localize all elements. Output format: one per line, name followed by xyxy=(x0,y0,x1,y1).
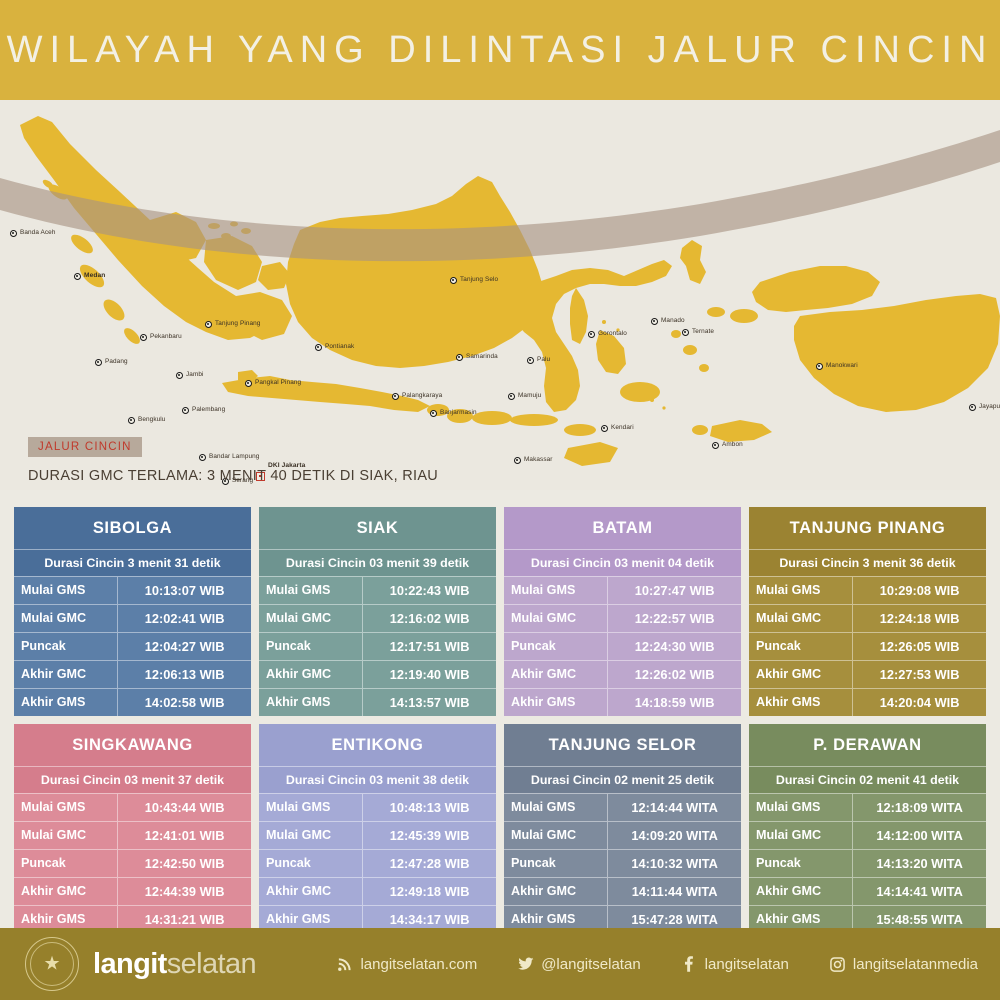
map-legend: JALUR CINCIN DURASI GMC TERLAMA: 3 MENIT… xyxy=(0,425,1000,495)
twitter-icon xyxy=(517,956,534,973)
event-time-value: 14:13:20 WITA xyxy=(853,850,986,877)
facebook-icon xyxy=(681,956,698,973)
city-label: Pontianak xyxy=(325,343,354,350)
event-label: Puncak xyxy=(259,850,363,877)
city-label: Banda Aceh xyxy=(20,229,55,236)
table-row: Mulai GMC12:22:57 WIB xyxy=(504,604,741,632)
city-label: Samarinda xyxy=(466,353,498,360)
city-marker-icon xyxy=(682,329,689,336)
event-time-value: 12:27:53 WIB xyxy=(853,661,986,688)
city-label: Manado xyxy=(661,317,685,324)
event-label: Puncak xyxy=(504,633,608,660)
city-marker-icon xyxy=(969,404,976,411)
event-label: Puncak xyxy=(14,850,118,877)
footer-bar: ★ langitselatan langitselatan.com@langit… xyxy=(0,928,1000,1000)
table-row: Mulai GMS10:48:13 WIB xyxy=(259,793,496,821)
event-label: Akhir GMC xyxy=(504,661,608,688)
event-time-value: 12:24:18 WIB xyxy=(853,605,986,632)
social-link-twitter[interactable]: @langitselatan xyxy=(517,956,640,973)
card-title: TANJUNG PINANG xyxy=(749,507,986,549)
event-time-value: 10:48:13 WIB xyxy=(363,794,496,821)
langitselatan-seal-logo: ★ xyxy=(25,937,79,991)
event-time-value: 12:04:27 WIB xyxy=(118,633,251,660)
event-label: Mulai GMS xyxy=(749,577,853,604)
event-label: Puncak xyxy=(749,850,853,877)
table-row: Akhir GMS14:18:59 WIB xyxy=(504,688,741,716)
city-marker-icon xyxy=(315,344,322,351)
city-card: SINGKAWANGDurasi Cincin 03 menit 37 deti… xyxy=(14,724,251,933)
city-marker-icon xyxy=(140,334,147,341)
city-marker-icon xyxy=(128,417,135,424)
seal-figure-icon: ★ xyxy=(26,955,78,974)
city-label: Manokwari xyxy=(826,362,858,369)
card-duration-label: Durasi Cincin 3 menit 31 detik xyxy=(14,549,251,576)
table-row: Mulai GMC12:02:41 WIB xyxy=(14,604,251,632)
card-title: TANJUNG SELOR xyxy=(504,724,741,766)
page-title: WILAYAH YANG DILINTASI JALUR CINCIN xyxy=(7,29,994,72)
brand-name-bold: langit xyxy=(93,948,167,980)
city-marker-icon xyxy=(651,318,658,325)
table-row: Akhir GMS14:02:58 WIB xyxy=(14,688,251,716)
city-label: Padang xyxy=(105,358,128,365)
event-time-value: 12:17:51 WIB xyxy=(363,633,496,660)
instagram-icon xyxy=(829,956,846,973)
city-marker-icon xyxy=(10,230,17,237)
table-row: Puncak12:04:27 WIB xyxy=(14,632,251,660)
event-label: Mulai GMS xyxy=(259,794,363,821)
event-time-value: 12:02:41 WIB xyxy=(118,605,251,632)
city-label: Jambi xyxy=(186,371,204,378)
city-label: Gorontalo xyxy=(598,330,627,337)
social-links: langitselatan.com@langitselatanlangitsel… xyxy=(296,956,978,973)
table-row: Puncak12:47:28 WIB xyxy=(259,849,496,877)
city-label: Pangkal Pinang xyxy=(255,379,301,386)
brand-wordmark: langitselatan xyxy=(93,948,256,981)
event-label: Akhir GMS xyxy=(749,689,853,716)
city-marker-icon xyxy=(527,357,534,364)
event-label: Mulai GMS xyxy=(14,577,118,604)
event-time-value: 12:14:44 WITA xyxy=(608,794,741,821)
card-title: BATAM xyxy=(504,507,741,549)
event-time-value: 12:16:02 WIB xyxy=(363,605,496,632)
social-link-rss[interactable]: langitselatan.com xyxy=(336,956,477,973)
city-marker-icon xyxy=(430,410,437,417)
table-row: Mulai GMS10:27:47 WIB xyxy=(504,576,741,604)
infographic-page: WILAYAH YANG DILINTASI JALUR CINCIN xyxy=(0,0,1000,1000)
table-row: Puncak12:42:50 WIB xyxy=(14,849,251,877)
card-duration-label: Durasi Cincin 03 menit 37 detik xyxy=(14,766,251,793)
event-time-value: 14:02:58 WIB xyxy=(118,689,251,716)
event-label: Mulai GMC xyxy=(14,605,118,632)
city-marker-icon xyxy=(74,273,81,280)
city-label: Palembang xyxy=(192,406,225,413)
event-time-value: 12:41:01 WIB xyxy=(118,822,251,849)
city-card: TANJUNG PINANGDurasi Cincin 3 menit 36 d… xyxy=(749,507,986,716)
event-time-value: 14:20:04 WIB xyxy=(853,689,986,716)
event-label: Akhir GMC xyxy=(14,661,118,688)
event-label: Akhir GMS xyxy=(504,689,608,716)
city-marker-icon xyxy=(450,277,457,284)
card-duration-label: Durasi Cincin 03 menit 38 detik xyxy=(259,766,496,793)
event-time-value: 12:24:30 WIB xyxy=(608,633,741,660)
city-label: Tanjung Pinang xyxy=(215,320,260,327)
event-label: Mulai GMS xyxy=(259,577,363,604)
event-time-value: 10:13:07 WIB xyxy=(118,577,251,604)
event-time-value: 10:22:43 WIB xyxy=(363,577,496,604)
table-row: Mulai GMC12:16:02 WIB xyxy=(259,604,496,632)
city-card: P. DERAWANDurasi Cincin 02 menit 41 deti… xyxy=(749,724,986,933)
event-label: Akhir GMS xyxy=(14,689,118,716)
event-label: Mulai GMC xyxy=(14,822,118,849)
event-time-value: 14:12:00 WITA xyxy=(853,822,986,849)
table-row: Puncak12:17:51 WIB xyxy=(259,632,496,660)
card-title: SINGKAWANG xyxy=(14,724,251,766)
event-label: Akhir GMC xyxy=(749,878,853,905)
table-row: Akhir GMC12:06:13 WIB xyxy=(14,660,251,688)
brand-name-light: selatan xyxy=(167,948,256,980)
card-duration-label: Durasi Cincin 02 menit 25 detik xyxy=(504,766,741,793)
city-card: SIBOLGADurasi Cincin 3 menit 31 detikMul… xyxy=(14,507,251,716)
city-marker-icon xyxy=(95,359,102,366)
event-time-value: 12:19:40 WIB xyxy=(363,661,496,688)
card-title: P. DERAWAN xyxy=(749,724,986,766)
event-time-value: 14:10:32 WITA xyxy=(608,850,741,877)
social-link-instagram[interactable]: langitselatanmedia xyxy=(829,956,978,973)
table-row: Akhir GMC14:14:41 WITA xyxy=(749,877,986,905)
title-bar: WILAYAH YANG DILINTASI JALUR CINCIN xyxy=(0,0,1000,100)
event-time-value: 12:22:57 WIB xyxy=(608,605,741,632)
table-row: Akhir GMS14:20:04 WIB xyxy=(749,688,986,716)
city-label: Banjarmasin xyxy=(440,409,477,416)
kalimantan-landmass xyxy=(286,176,544,368)
city-timing-cards: SIBOLGADurasi Cincin 3 menit 31 detikMul… xyxy=(0,498,1000,928)
card-duration-label: Durasi Cincin 03 menit 39 detik xyxy=(259,549,496,576)
card-title: SIBOLGA xyxy=(14,507,251,549)
card-row-2: SINGKAWANGDurasi Cincin 03 menit 37 deti… xyxy=(14,724,986,933)
table-row: Mulai GMS10:29:08 WIB xyxy=(749,576,986,604)
event-time-value: 10:43:44 WIB xyxy=(118,794,251,821)
city-marker-icon xyxy=(588,331,595,338)
table-row: Mulai GMC14:09:20 WITA xyxy=(504,821,741,849)
event-label: Akhir GMC xyxy=(749,661,853,688)
social-link-facebook[interactable]: langitselatan xyxy=(681,956,789,973)
table-row: Puncak12:24:30 WIB xyxy=(504,632,741,660)
card-duration-label: Durasi Cincin 02 menit 41 detik xyxy=(749,766,986,793)
city-label: Jayapura xyxy=(979,403,1000,410)
event-time-value: 10:29:08 WIB xyxy=(853,577,986,604)
city-label: Ternate xyxy=(692,328,714,335)
city-label: Mamuju xyxy=(518,392,541,399)
event-label: Mulai GMC xyxy=(259,605,363,632)
city-marker-icon xyxy=(392,393,399,400)
table-row: Akhir GMC12:26:02 WIB xyxy=(504,660,741,688)
event-label: Mulai GMS xyxy=(14,794,118,821)
table-row: Mulai GMS12:14:44 WITA xyxy=(504,793,741,821)
event-label: Mulai GMS xyxy=(504,577,608,604)
java-landmass xyxy=(222,376,430,412)
city-label: Tanjung Selo xyxy=(460,276,498,283)
table-row: Akhir GMC12:44:39 WIB xyxy=(14,877,251,905)
papua-west-landmass xyxy=(752,266,880,312)
city-label: Pekanbaru xyxy=(150,333,182,340)
table-row: Akhir GMC12:27:53 WIB xyxy=(749,660,986,688)
city-marker-icon xyxy=(176,372,183,379)
event-label: Mulai GMC xyxy=(259,822,363,849)
event-time-value: 12:42:50 WIB xyxy=(118,850,251,877)
event-time-value: 12:45:39 WIB xyxy=(363,822,496,849)
event-time-value: 14:09:20 WITA xyxy=(608,822,741,849)
event-label: Akhir GMC xyxy=(14,878,118,905)
legend-note-durasi: DURASI GMC TERLAMA: 3 MENIT 40 DETIK DI … xyxy=(28,468,438,484)
table-row: Mulai GMC12:41:01 WIB xyxy=(14,821,251,849)
event-label: Akhir GMC xyxy=(504,878,608,905)
annular-path-band xyxy=(0,130,1000,261)
card-title: ENTIKONG xyxy=(259,724,496,766)
event-label: Mulai GMC xyxy=(504,605,608,632)
event-label: Puncak xyxy=(14,633,118,660)
event-label: Mulai GMS xyxy=(749,794,853,821)
event-time-value: 12:49:18 WIB xyxy=(363,878,496,905)
event-time-value: 14:13:57 WIB xyxy=(363,689,496,716)
table-row: Puncak14:13:20 WITA xyxy=(749,849,986,877)
legend-chip-jalur-cincin: JALUR CINCIN xyxy=(28,437,142,457)
papua-landmass xyxy=(794,294,1000,412)
city-card: BATAMDurasi Cincin 03 menit 04 detikMula… xyxy=(504,507,741,716)
card-duration-label: Durasi Cincin 03 menit 04 detik xyxy=(504,549,741,576)
city-label: Medan xyxy=(84,272,105,279)
social-link-label: langitselatan xyxy=(705,956,789,973)
event-time-value: 10:27:47 WIB xyxy=(608,577,741,604)
table-row: Mulai GMS10:22:43 WIB xyxy=(259,576,496,604)
event-label: Mulai GMS xyxy=(504,794,608,821)
table-row: Mulai GMS10:43:44 WIB xyxy=(14,793,251,821)
event-time-value: 14:18:59 WIB xyxy=(608,689,741,716)
city-card: SIAKDurasi Cincin 03 menit 39 detikMulai… xyxy=(259,507,496,716)
table-row: Puncak12:26:05 WIB xyxy=(749,632,986,660)
social-link-label: langitselatan.com xyxy=(360,956,477,973)
table-row: Puncak14:10:32 WITA xyxy=(504,849,741,877)
event-label: Puncak xyxy=(259,633,363,660)
event-label: Mulai GMC xyxy=(749,822,853,849)
event-time-value: 12:26:05 WIB xyxy=(853,633,986,660)
city-marker-icon xyxy=(508,393,515,400)
event-label: Mulai GMC xyxy=(749,605,853,632)
event-time-value: 14:14:41 WITA xyxy=(853,878,986,905)
rss-icon xyxy=(336,956,353,973)
event-label: Akhir GMS xyxy=(259,689,363,716)
table-row: Mulai GMC12:45:39 WIB xyxy=(259,821,496,849)
event-label: Akhir GMC xyxy=(259,878,363,905)
card-title: SIAK xyxy=(259,507,496,549)
table-row: Mulai GMS12:18:09 WITA xyxy=(749,793,986,821)
event-time-value: 12:47:28 WIB xyxy=(363,850,496,877)
table-row: Mulai GMC14:12:00 WITA xyxy=(749,821,986,849)
city-label: Palu xyxy=(537,356,550,363)
city-card: TANJUNG SELORDurasi Cincin 02 menit 25 d… xyxy=(504,724,741,933)
event-time-value: 12:44:39 WIB xyxy=(118,878,251,905)
city-marker-icon xyxy=(182,407,189,414)
city-marker-icon xyxy=(245,380,252,387)
table-row: Mulai GMS10:13:07 WIB xyxy=(14,576,251,604)
card-duration-label: Durasi Cincin 3 menit 36 detik xyxy=(749,549,986,576)
event-label: Mulai GMC xyxy=(504,822,608,849)
city-label: Bengkulu xyxy=(138,416,165,423)
event-time-value: 12:18:09 WITA xyxy=(853,794,986,821)
city-marker-icon xyxy=(456,354,463,361)
city-marker-icon xyxy=(205,321,212,328)
event-label: Puncak xyxy=(504,850,608,877)
table-row: Akhir GMC12:49:18 WIB xyxy=(259,877,496,905)
table-row: Akhir GMC14:11:44 WITA xyxy=(504,877,741,905)
city-label: Palangkaraya xyxy=(402,392,442,399)
table-row: Akhir GMS14:13:57 WIB xyxy=(259,688,496,716)
event-time-value: 12:26:02 WIB xyxy=(608,661,741,688)
card-row-1: SIBOLGADurasi Cincin 3 menit 31 detikMul… xyxy=(14,507,986,716)
social-link-label: langitselatanmedia xyxy=(853,956,978,973)
table-row: Akhir GMC12:19:40 WIB xyxy=(259,660,496,688)
social-link-label: @langitselatan xyxy=(541,956,640,973)
city-card: ENTIKONGDurasi Cincin 03 menit 38 detikM… xyxy=(259,724,496,933)
table-row: Mulai GMC12:24:18 WIB xyxy=(749,604,986,632)
city-marker-icon xyxy=(816,363,823,370)
event-time-value: 12:06:13 WIB xyxy=(118,661,251,688)
event-time-value: 14:11:44 WITA xyxy=(608,878,741,905)
event-label: Puncak xyxy=(749,633,853,660)
event-label: Akhir GMC xyxy=(259,661,363,688)
